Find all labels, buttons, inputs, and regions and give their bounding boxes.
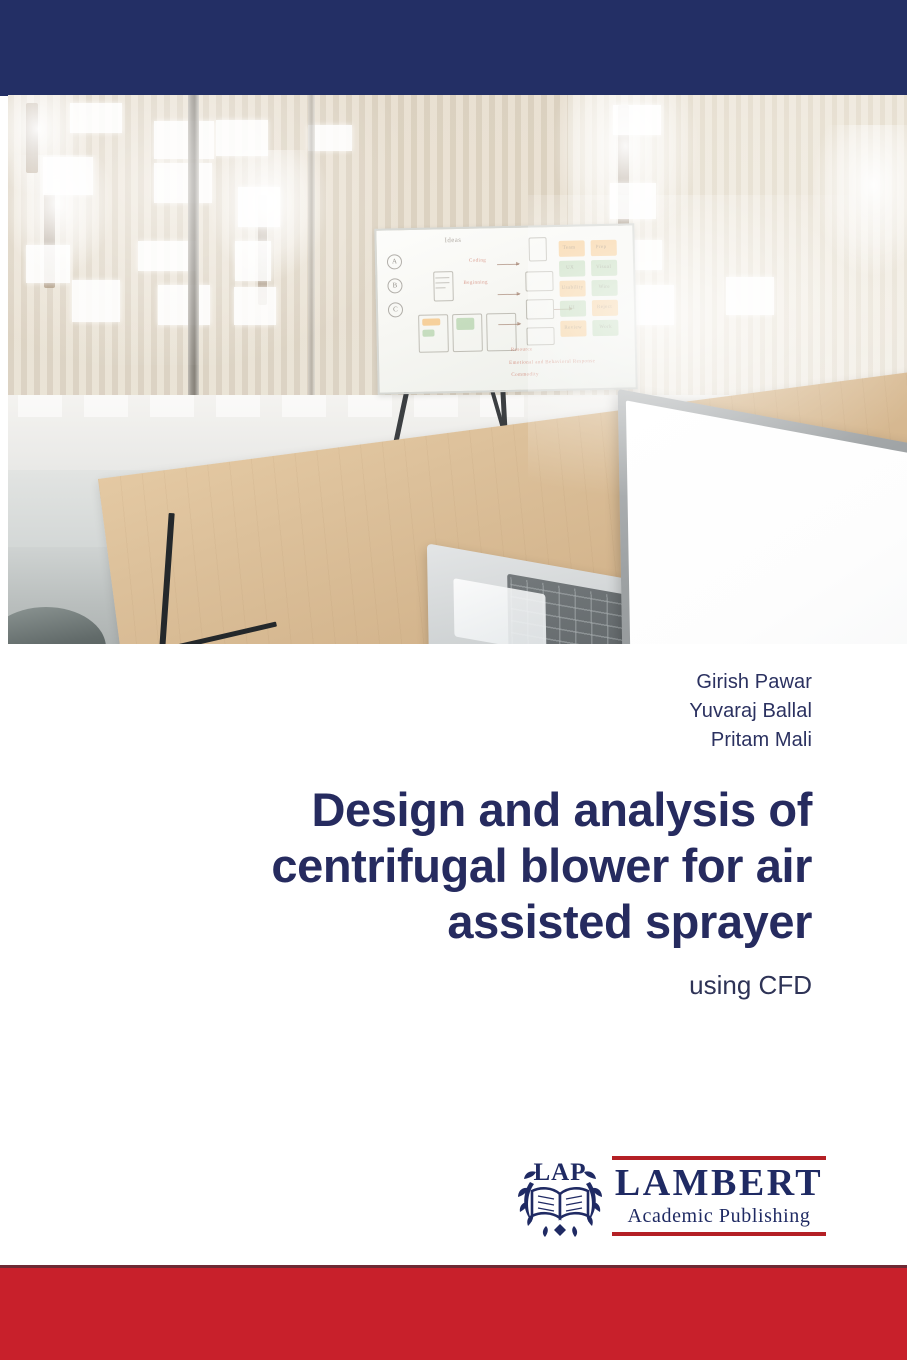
author-name: Girish Pawar <box>112 668 812 697</box>
cover-photo: Ideas A B C Coding Beginning <box>8 95 907 644</box>
logo-rule-bottom <box>612 1232 826 1236</box>
logo-rule-top <box>612 1156 826 1160</box>
book-title: Design and analysis of centrifugal blowe… <box>52 782 812 950</box>
photo-scene: Ideas A B C Coding Beginning <box>8 95 907 644</box>
publisher-tagline: Academic Publishing <box>612 1204 826 1228</box>
title-line-1: Design and analysis of <box>52 782 812 838</box>
laptop-lid <box>618 389 907 644</box>
lap-emblem-icon: LAP <box>516 1154 604 1240</box>
laptop-screen <box>626 400 907 644</box>
top-color-band <box>0 0 907 96</box>
title-line-2: centrifugal blower for air <box>52 838 812 894</box>
title-line-3: assisted sprayer <box>52 894 812 950</box>
svg-text:LAP: LAP <box>534 1159 587 1186</box>
author-name: Pritam Mali <box>112 726 812 755</box>
publisher-name: LAMBERT <box>612 1163 826 1203</box>
laptop <box>8 95 907 644</box>
bottom-color-band <box>0 1268 907 1360</box>
author-name: Yuvaraj Ballal <box>112 697 812 726</box>
publisher-wordmark: LAMBERT Academic Publishing <box>612 1156 826 1236</box>
publisher-logo: LAP LAMBERT Academic Publishing <box>516 1152 826 1244</box>
book-subtitle: using CFD <box>52 968 812 1002</box>
author-list: Girish Pawar Yuvaraj Ballal Pritam Mali <box>112 668 812 755</box>
